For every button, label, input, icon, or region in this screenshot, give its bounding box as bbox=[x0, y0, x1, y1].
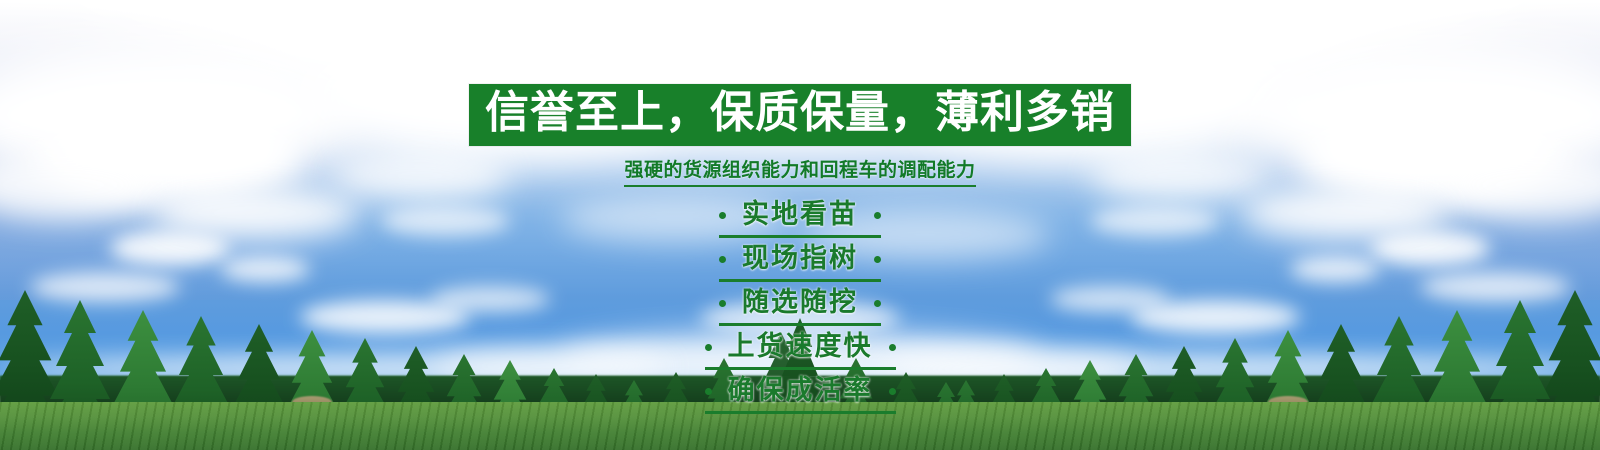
cloud bbox=[1090, 206, 1220, 236]
cloud bbox=[560, 196, 790, 242]
cloud bbox=[380, 206, 510, 236]
cloud bbox=[30, 272, 180, 302]
cloud bbox=[1090, 150, 1270, 202]
cloud bbox=[150, 186, 360, 240]
banner-stage: 信誉至上，保质保量，薄利多销 强硬的货源组织能力和回程车的调配能力 实地看苗 现… bbox=[0, 0, 1600, 450]
cloud bbox=[900, 30, 1300, 160]
cloud bbox=[1420, 272, 1570, 302]
cloud bbox=[1290, 256, 1380, 282]
cloud bbox=[430, 286, 550, 312]
cloud bbox=[1240, 186, 1450, 240]
cloud bbox=[220, 256, 310, 282]
cloud bbox=[800, 210, 1050, 260]
cloud bbox=[1050, 286, 1170, 312]
crop-rows bbox=[0, 402, 1600, 450]
cloud bbox=[330, 150, 510, 202]
